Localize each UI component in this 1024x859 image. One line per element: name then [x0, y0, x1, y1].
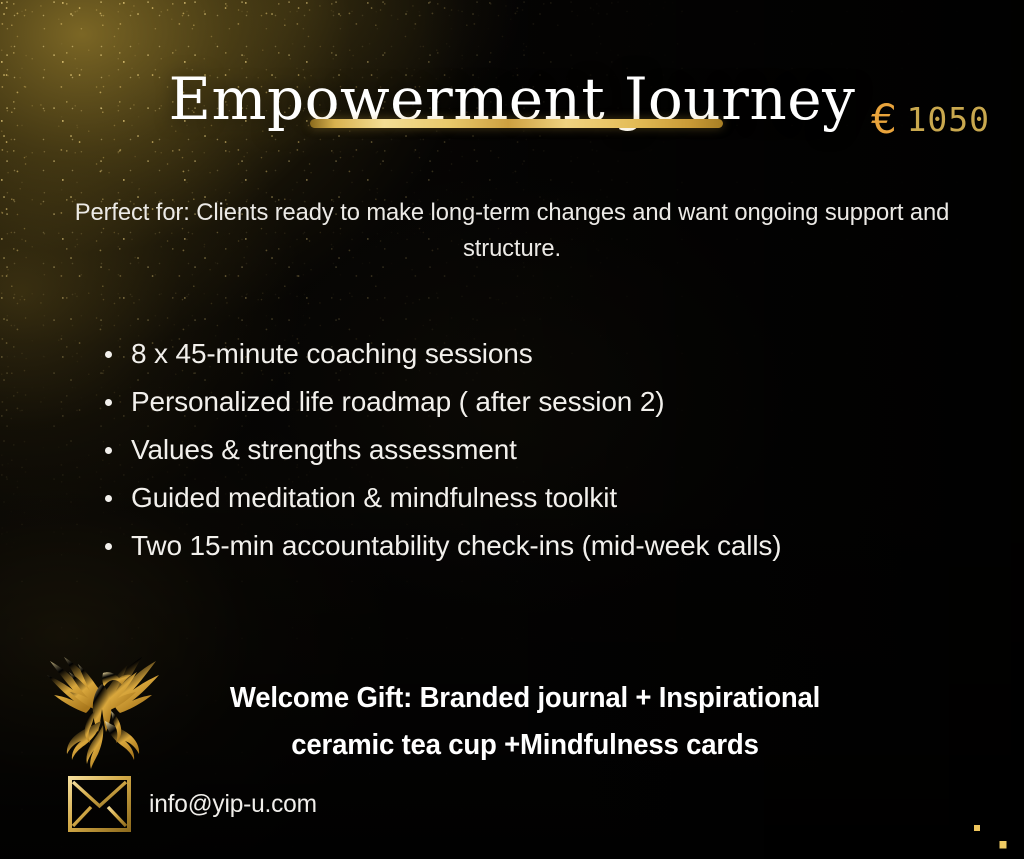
feature-list: 8 x 45-minute coaching sessions Personal… [104, 330, 781, 570]
list-item: Personalized life roadmap ( after sessio… [104, 378, 781, 426]
bullet-dot-icon [105, 399, 112, 406]
price-amount: 1050 [907, 100, 990, 139]
list-item-label: Values & strengths assessment [131, 434, 517, 465]
list-item: 8 x 45-minute coaching sessions [104, 330, 781, 378]
list-item-label: Personalized life roadmap ( after sessio… [131, 386, 664, 417]
price-tag: €1050 [871, 100, 990, 140]
title-divider-bar [310, 119, 723, 128]
list-item: Two 15-min accountability check-ins (mid… [104, 522, 781, 570]
bullet-dot-icon [105, 543, 112, 550]
envelope-icon [68, 776, 131, 832]
list-item-label: 8 x 45-minute coaching sessions [131, 338, 533, 369]
poster-canvas: Empowerment Journey €1050 Perfect for: C… [0, 0, 1024, 859]
contact-row: info@yip-u.com [68, 776, 320, 832]
welcome-gift-line-2: ceramic tea cup +Mindfulness cards [184, 722, 866, 769]
welcome-gift-line-1: Welcome Gift: Branded journal + Inspirat… [184, 675, 866, 722]
bullet-dot-icon [105, 447, 112, 454]
bullet-dot-icon [105, 495, 112, 502]
list-item-label: Guided meditation & mindfulness toolkit [131, 482, 617, 513]
phoenix-icon [31, 627, 173, 769]
bullet-dot-icon [105, 351, 112, 358]
list-item: Guided meditation & mindfulness toolkit [104, 474, 781, 522]
contact-email[interactable]: info@yip-u.com [149, 790, 317, 819]
audience-description: Perfect for: Clients ready to make long-… [43, 195, 982, 269]
list-item-label: Two 15-min accountability check-ins (mid… [131, 530, 781, 561]
list-item: Values & strengths assessment [104, 426, 781, 474]
welcome-gift-text: Welcome Gift: Branded journal + Inspirat… [184, 675, 866, 769]
currency-symbol: € [871, 97, 896, 143]
